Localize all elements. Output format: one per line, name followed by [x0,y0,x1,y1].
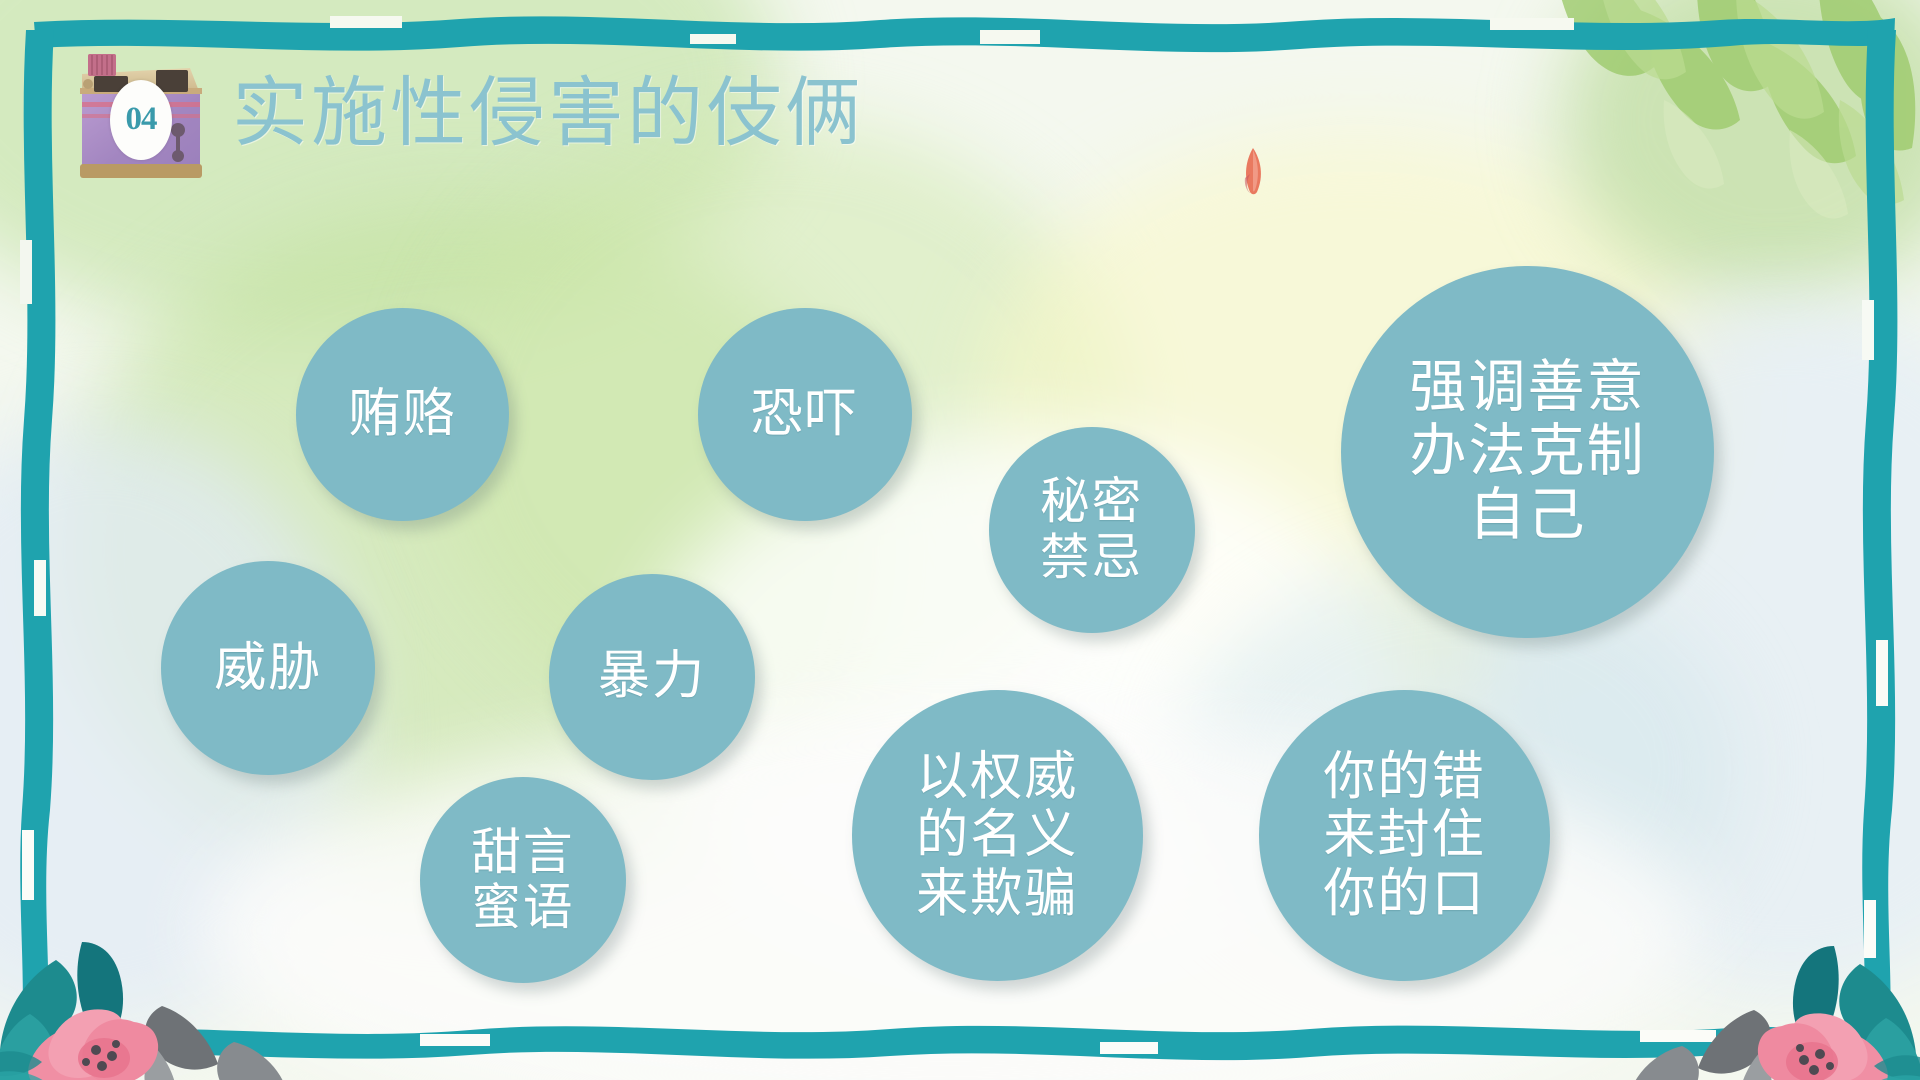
tactic-bubble[interactable]: 甜言 蜜语 [420,777,626,983]
flower-bottom-right-icon [1630,814,1920,1080]
tactic-bubble-label: 强调善意 办法克制 自己 [1409,356,1645,548]
flower-bottom-left-icon [0,810,286,1080]
foliage-top-right-icon [1400,0,1920,280]
tactic-bubble[interactable]: 强调善意 办法克制 自己 [1341,266,1714,638]
tactic-bubble-label: 暴力 [598,647,706,705]
leaf-accent-icon [1242,148,1264,196]
tactic-bubble[interactable]: 恐吓 [698,308,912,522]
tactic-bubble[interactable]: 贿赂 [296,308,510,522]
slide-number: 04 [126,101,157,138]
tactic-bubble[interactable]: 你的错 来封住 你的口 [1259,690,1550,980]
tactic-bubble-label: 秘密 禁忌 [1040,474,1143,585]
tactic-bubble[interactable]: 威胁 [161,561,375,775]
tactic-bubble-label: 甜言 蜜语 [471,825,574,936]
tactic-bubble-label: 威胁 [214,639,322,697]
slide-number-badge: 04 [110,80,172,160]
tactic-bubble-label: 贿赂 [348,385,456,443]
tactic-bubble[interactable]: 以权威 的名义 来欺骗 [852,690,1143,980]
page-title: 实施性侵害的伎俩 [232,76,864,152]
tactic-bubble-label: 以权威 的名义 来欺骗 [916,748,1078,923]
tactic-bubble-label: 恐吓 [751,385,859,443]
tactic-bubble-label: 你的错 来封住 你的口 [1323,748,1485,923]
tactic-bubble[interactable]: 暴力 [549,574,755,780]
camera-icon: 04 [72,44,210,184]
slide-canvas: 04 实施性侵害的伎俩 贿赂恐吓秘密 禁忌强调善意 办法克制 自己威胁暴力甜言 … [0,0,1920,1080]
tactic-bubble[interactable]: 秘密 禁忌 [989,427,1195,633]
wash-green-topright [1560,0,1920,300]
slide-header: 04 实施性侵害的伎俩 [72,44,864,184]
